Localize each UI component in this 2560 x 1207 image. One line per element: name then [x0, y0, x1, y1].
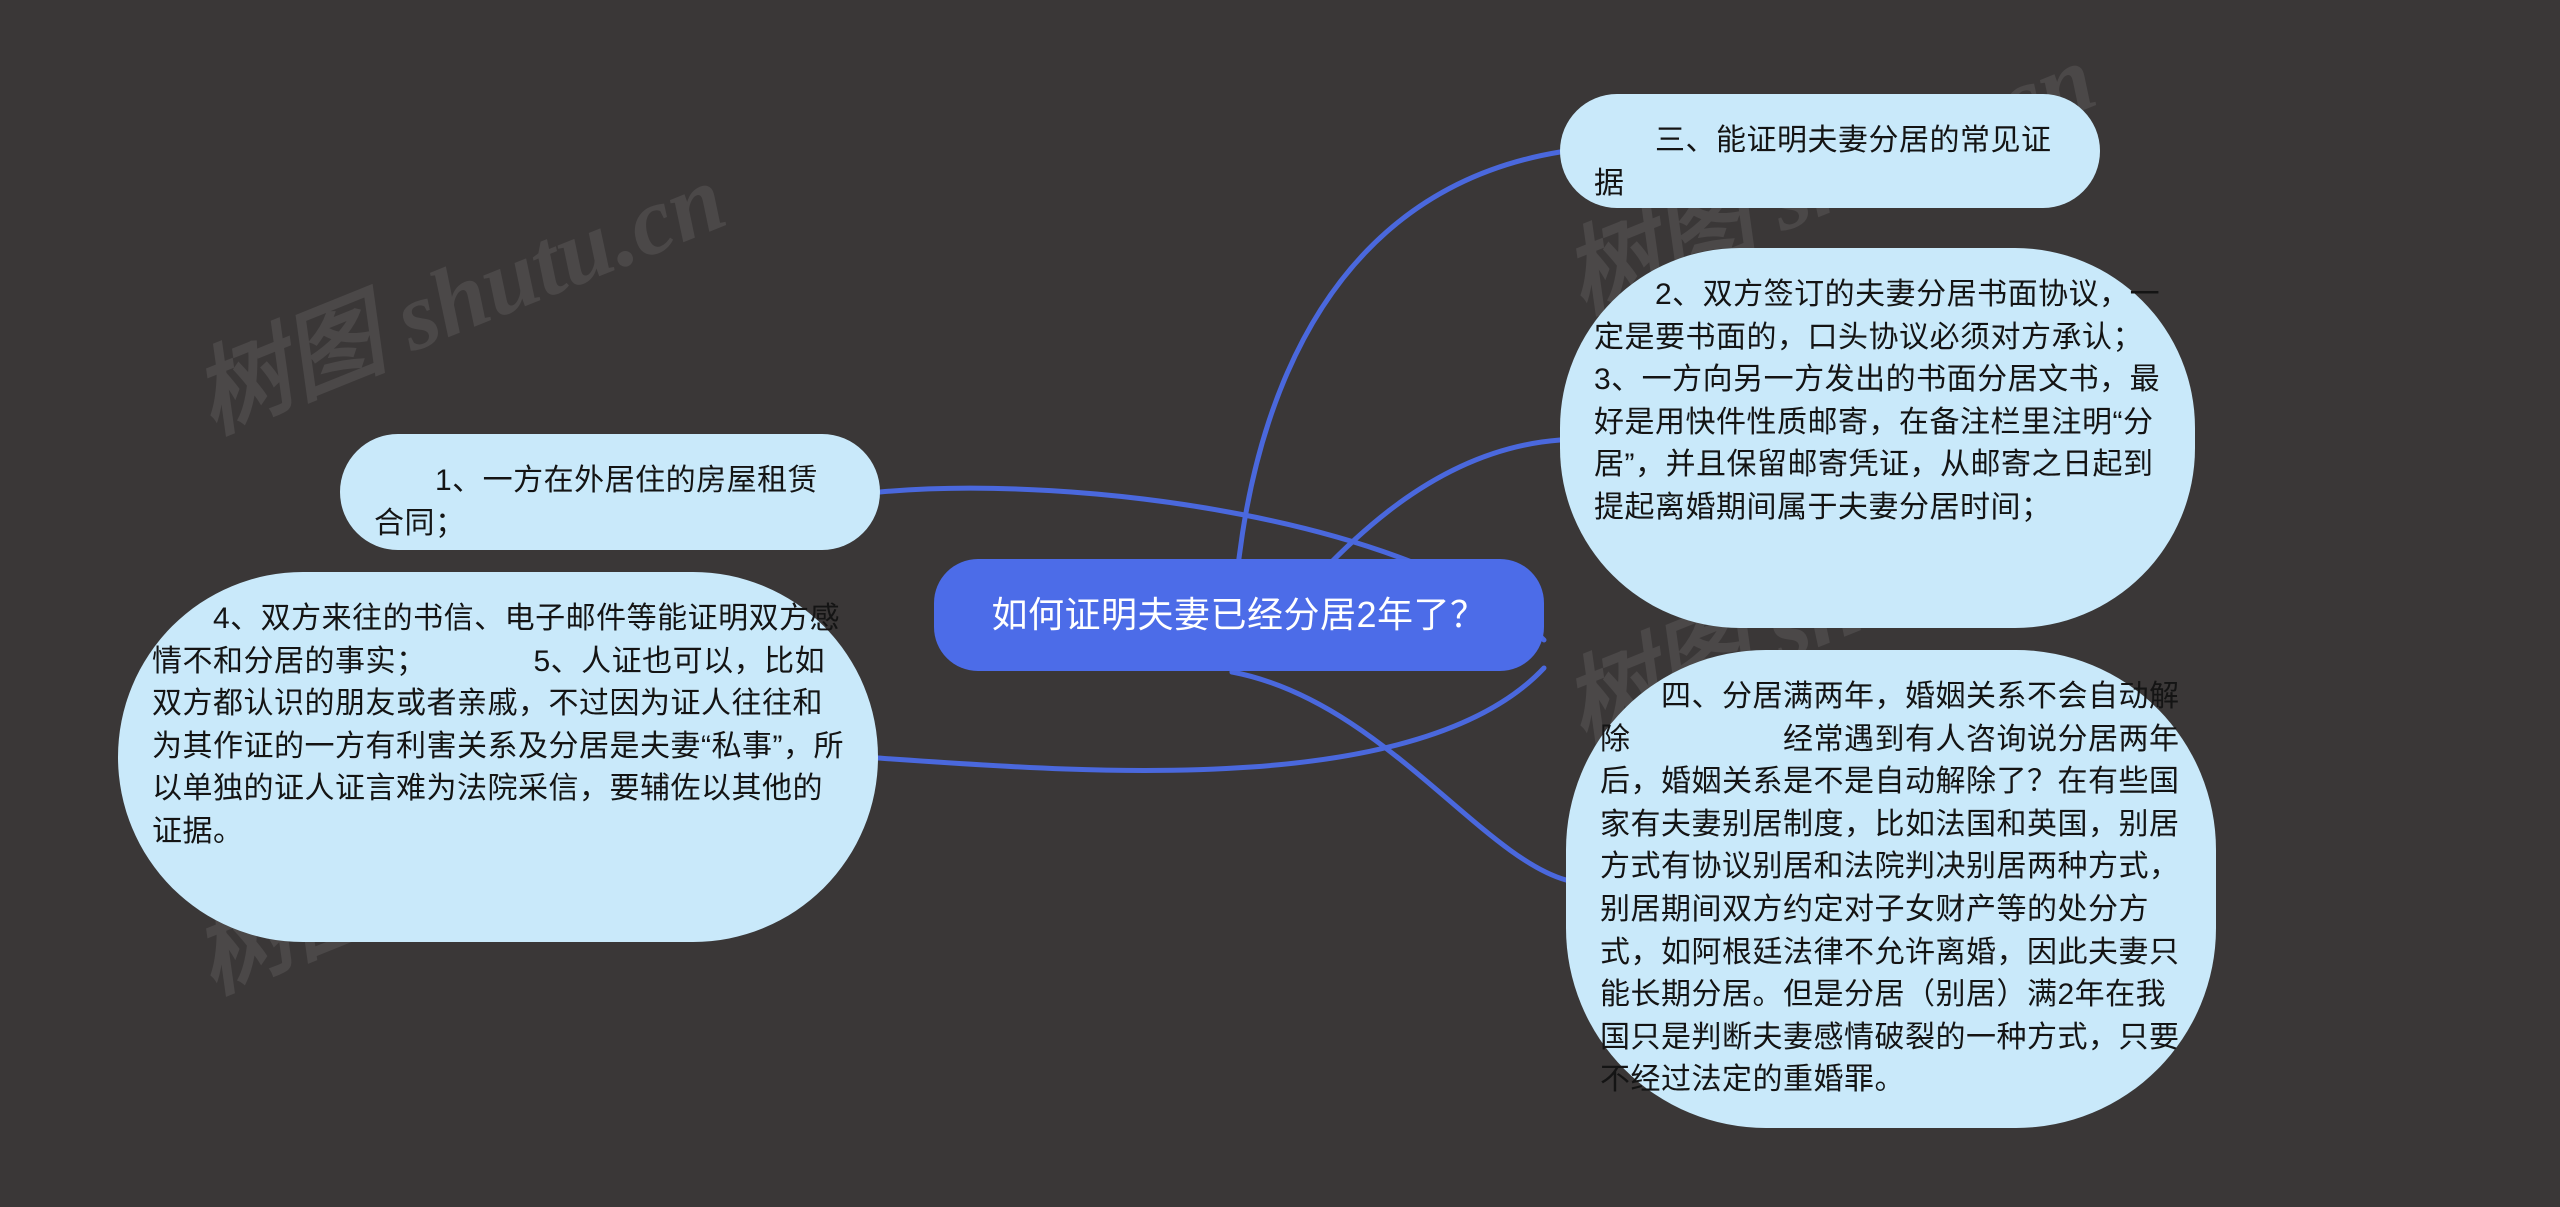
- root-node-label: 如何证明夫妻已经分居2年了？: [991, 592, 1486, 639]
- mindmap-root-node[interactable]: 如何证明夫妻已经分居2年了？: [934, 559, 1544, 671]
- mindmap-branch-node-left-2[interactable]: 4、双方来往的书信、电子邮件等能证明双方感情不和分居的事实； 5、人证也可以，比…: [118, 572, 878, 942]
- mindmap-branch-node-right-3[interactable]: 四、分居满两年，婚姻关系不会自动解除 经常遇到有人咨询说分居两年后，婚姻关系是不…: [1566, 650, 2216, 1128]
- connector-root-to-left-2: [878, 668, 1544, 770]
- mindmap-canvas: 树图 shutu.cn 树图 shutu.cn 树图 shutu.cn 树图 s…: [0, 0, 2560, 1207]
- mindmap-branch-node-right-2[interactable]: 2、双方签订的夫妻分居书面协议，一定是要书面的，口头协议必须对方承认； 3、一方…: [1560, 248, 2195, 628]
- mindmap-branch-node-right-1[interactable]: 三、能证明夫妻分居的常见证据: [1560, 94, 2100, 208]
- watermark-text: 树图 shutu.cn: [170, 120, 741, 459]
- connector-root-to-right-3: [1232, 672, 1566, 880]
- mindmap-branch-node-left-1[interactable]: 1、一方在外居住的房屋租赁合同；: [340, 434, 880, 550]
